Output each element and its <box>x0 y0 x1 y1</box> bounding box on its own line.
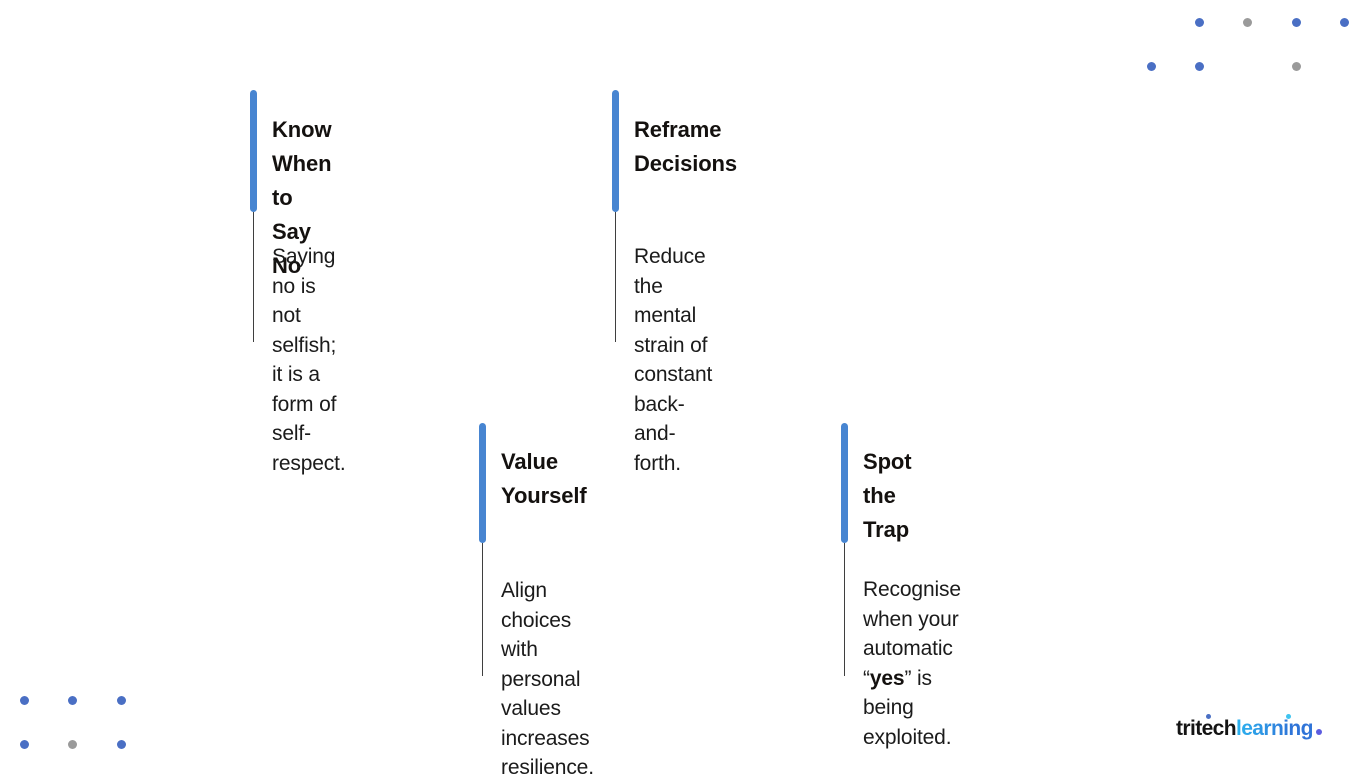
slide-canvas: Know When to Say No Saying no is not sel… <box>0 0 1366 768</box>
decorative-dot <box>117 696 126 705</box>
accent-bar <box>612 90 619 212</box>
decorative-dot <box>20 740 29 749</box>
vertical-divider-line <box>253 212 254 342</box>
decorative-dot <box>1195 62 1204 71</box>
logo-text-tritech: tritech <box>1176 717 1236 740</box>
card-description: Recognise when your automatic “yes” is b… <box>863 575 961 752</box>
decorative-dot <box>117 740 126 749</box>
card-description: Saying no is not selfish; it is a form o… <box>272 242 346 478</box>
card-title: Spot the Trap <box>863 445 911 547</box>
card-description-emphasis: yes <box>870 667 905 690</box>
card-description: Align choices with personal values incre… <box>501 576 594 783</box>
decorative-dot <box>1195 18 1204 27</box>
logo-i-dot-icon <box>1286 714 1291 719</box>
card-title: Reframe Decisions <box>634 113 737 181</box>
decorative-dot <box>68 740 77 749</box>
accent-bar <box>479 423 486 543</box>
logo-text-learning: learning <box>1236 717 1313 740</box>
decorative-dot <box>20 696 29 705</box>
card-title: Value Yourself <box>501 445 587 513</box>
decorative-dot <box>1292 62 1301 71</box>
vertical-divider-line <box>615 212 616 342</box>
vertical-divider-line <box>482 543 483 676</box>
decorative-dot <box>1243 18 1252 27</box>
decorative-dot <box>1147 62 1156 71</box>
vertical-divider-line <box>844 543 845 676</box>
decorative-dot <box>1292 18 1301 27</box>
card-description: Reduce the mental strain of constant bac… <box>634 242 712 478</box>
decorative-dot <box>1340 18 1349 27</box>
accent-bar <box>841 423 848 543</box>
logo-i-dot-icon <box>1206 714 1211 719</box>
accent-bar <box>250 90 257 212</box>
decorative-dot <box>68 696 77 705</box>
tritech-learning-logo: tritechlearning <box>1176 716 1322 742</box>
logo-period-dot-icon <box>1316 729 1322 735</box>
